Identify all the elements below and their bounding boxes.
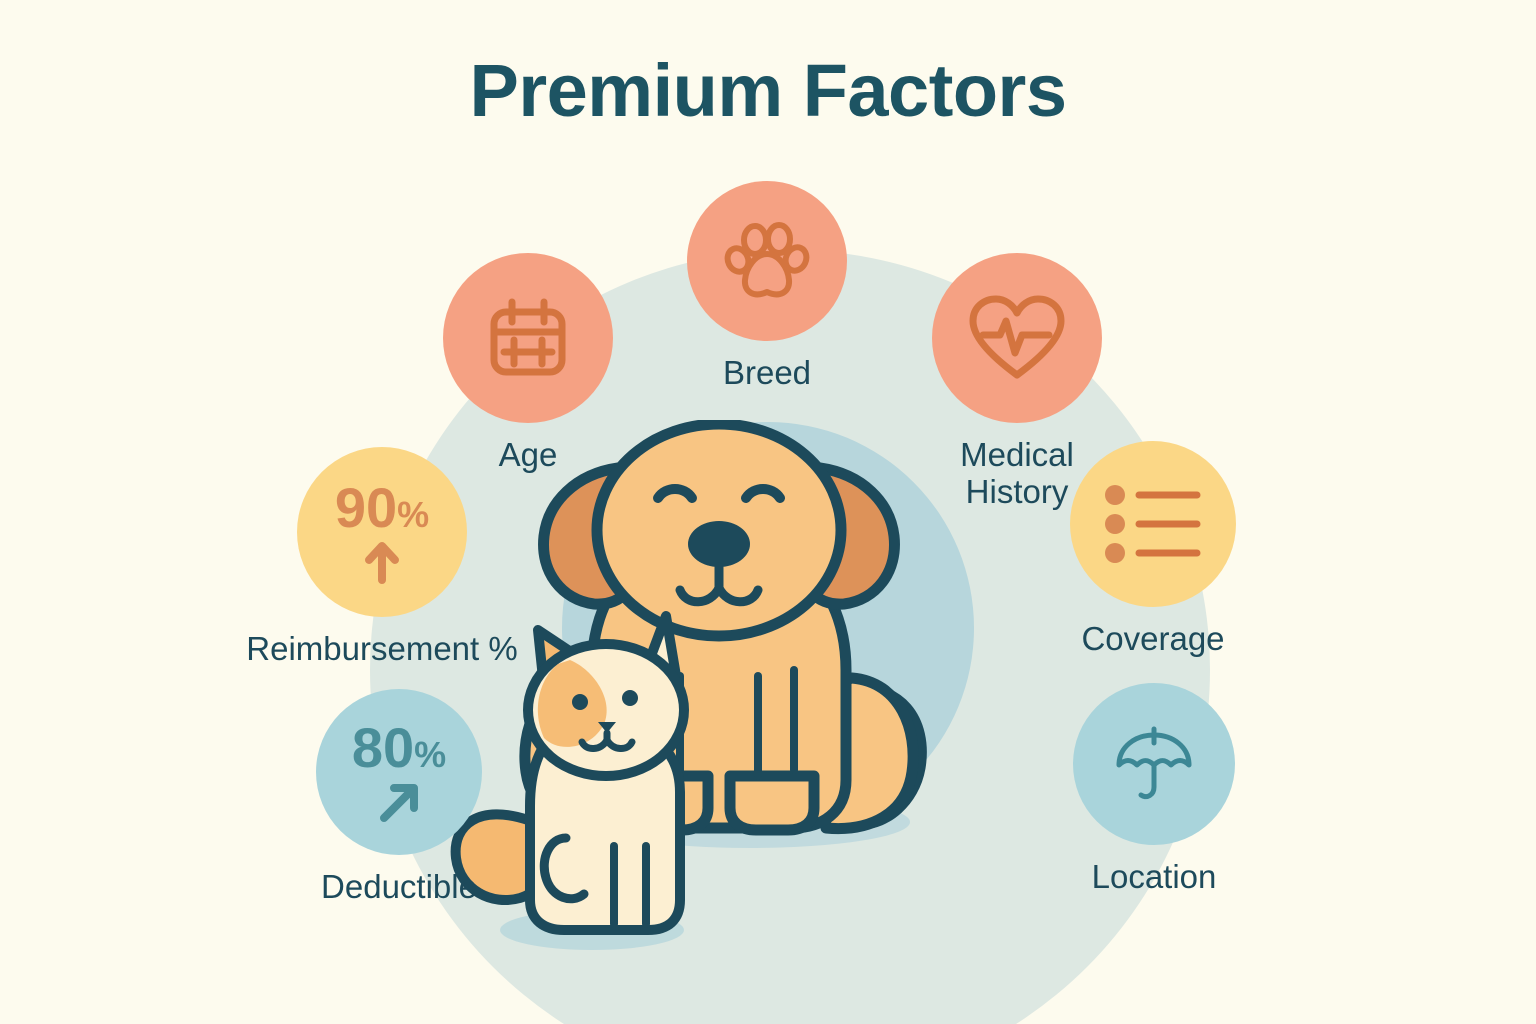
reimbursement-bubble[interactable]: 90 % [297, 447, 467, 617]
age-label: Age [499, 437, 558, 474]
coverage-label: Coverage [1081, 621, 1224, 658]
calendar-icon [482, 292, 574, 384]
location-bubble[interactable] [1073, 683, 1235, 845]
factor-node-breed[interactable]: Breed [687, 181, 847, 392]
medical-history-label: Medical History [960, 437, 1074, 511]
heart-pulse-icon [967, 291, 1067, 385]
list-icon [1103, 483, 1203, 565]
medical-history-bubble[interactable] [932, 253, 1102, 423]
coverage-bubble[interactable] [1070, 441, 1236, 607]
breed-label: Breed [723, 355, 811, 392]
cat-left-eye [572, 694, 588, 710]
cat-right-eye [622, 690, 638, 706]
deductible-unit: % [414, 737, 446, 773]
factor-node-location[interactable]: Location [1073, 683, 1235, 896]
factor-node-coverage[interactable]: Coverage [1070, 441, 1236, 658]
deductible-bubble[interactable]: 80 % [316, 689, 482, 855]
dog-nose [688, 521, 750, 567]
arrow-up-icon [362, 540, 402, 584]
reimbursement-unit: % [397, 497, 429, 533]
reimbursement-value: 90 [335, 480, 397, 536]
page-title: Premium Factors [0, 48, 1536, 133]
breed-bubble[interactable] [687, 181, 847, 341]
arrow-up-right-icon [376, 780, 422, 824]
paw-print-icon [722, 216, 812, 306]
factor-node-deductible[interactable]: 80 % Deductible [316, 689, 482, 906]
umbrella-icon [1111, 721, 1197, 807]
reimbursement-label: Reimbursement % [246, 631, 517, 668]
deductible-value: 80 [352, 720, 414, 776]
location-label: Location [1092, 859, 1217, 896]
factor-node-reimbursement[interactable]: 90 % Reimbursement % [297, 447, 467, 668]
age-bubble[interactable] [443, 253, 613, 423]
deductible-label: Deductible [321, 869, 477, 906]
infographic-canvas: Premium Factors [0, 0, 1536, 1024]
factor-node-age[interactable]: Age [435, 253, 621, 474]
